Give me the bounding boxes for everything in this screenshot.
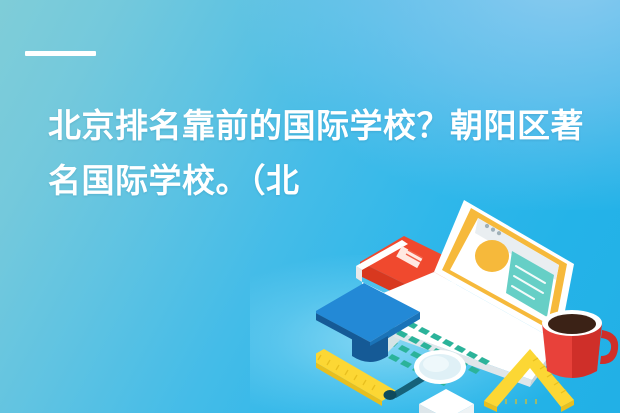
article-banner: 北京排名靠前的国际学校？朝阳区著名国际学校。（北 (0, 0, 620, 413)
coffee-mug (542, 310, 618, 378)
eraser (419, 389, 474, 413)
education-desk-illustration (316, 186, 620, 413)
decorative-dash (25, 51, 96, 56)
